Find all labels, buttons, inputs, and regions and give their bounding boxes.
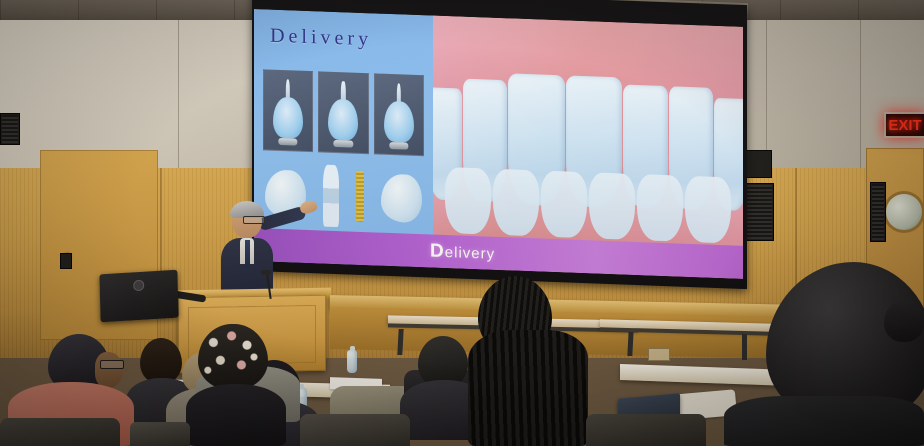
crown-shape-icon xyxy=(384,100,414,142)
presenter-glasses-icon xyxy=(243,216,265,224)
exit-sign: EXIT xyxy=(884,112,924,138)
slide-footer-label: Delivery xyxy=(430,240,495,264)
abutment-part xyxy=(323,164,339,227)
crown-base xyxy=(334,140,353,148)
chair-back xyxy=(0,418,120,446)
implant-thumbnail xyxy=(374,74,424,156)
slide-footer-rest: elivery xyxy=(445,244,495,263)
chair-back xyxy=(300,414,410,446)
projection-surface: Delivery xyxy=(254,9,743,279)
microphone-icon xyxy=(261,270,271,275)
wall-speaker-icon xyxy=(744,150,772,178)
projection-screen: Delivery xyxy=(252,0,747,289)
implant-thumbnail-row xyxy=(263,70,424,157)
power-outlet-icon xyxy=(648,348,670,361)
student-braids-body xyxy=(468,330,588,446)
chair-back xyxy=(130,422,190,446)
implant-thumbnail xyxy=(318,72,368,154)
crown-base xyxy=(278,138,297,146)
student-face xyxy=(95,352,123,388)
crown-shape-icon xyxy=(273,96,303,138)
slide-footer-initial: D xyxy=(430,240,445,262)
student-glasses-icon xyxy=(100,360,124,369)
wall-seam xyxy=(860,20,861,170)
chair-back xyxy=(586,414,706,446)
presenter-tie xyxy=(245,240,250,268)
dell-logo-icon xyxy=(133,280,144,292)
wall-seam xyxy=(766,20,767,170)
slide-title: Delivery xyxy=(270,25,372,52)
door-porthole-window xyxy=(886,194,922,230)
student-scrub-cap xyxy=(198,324,268,390)
wall-speaker-icon xyxy=(60,253,72,269)
wall-speaker-icon xyxy=(0,113,20,145)
retaining-screw-part xyxy=(356,171,364,222)
crown-base xyxy=(389,142,408,150)
student-head xyxy=(884,300,924,342)
desk-leg xyxy=(742,334,747,360)
wall-seam xyxy=(178,20,179,170)
wall-speaker-icon xyxy=(870,182,886,242)
crown-lingual-part xyxy=(381,174,422,223)
implant-thumbnail xyxy=(263,70,313,152)
student-foreground-torso xyxy=(724,396,924,446)
crown-shape-icon xyxy=(328,98,358,140)
student-torso xyxy=(186,384,286,446)
podium-monitor[interactable] xyxy=(99,270,178,323)
exit-sign-label: EXIT xyxy=(888,118,921,133)
water-bottle xyxy=(347,350,357,373)
lecture-hall-screenshot: EXIT Delivery xyxy=(0,0,924,446)
